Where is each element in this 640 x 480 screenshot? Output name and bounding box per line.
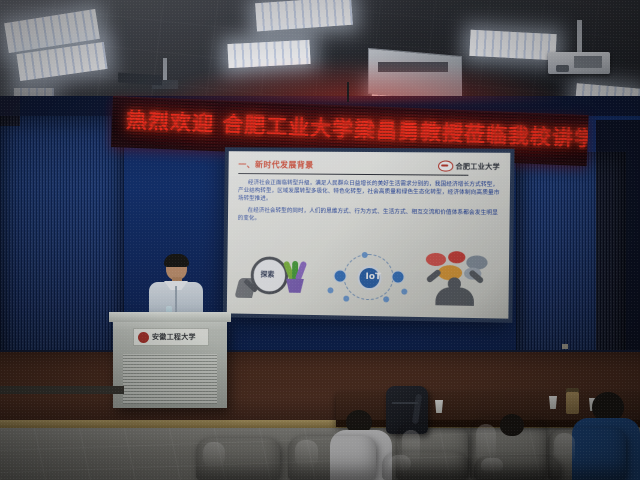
wall-baseboard: [0, 386, 124, 394]
network-node-3: [362, 252, 368, 258]
slide-body-text: 经济社会正面临转型升级，满足人民群众日益增长的美好生活需求分别的，我国经济增长方…: [238, 179, 500, 226]
projection-screen: 一、新时代发展背景 合肥工业大学 经济社会正面临转型升级，满足人民群众日益增长的…: [227, 151, 511, 318]
ceiling-light-5: [469, 30, 556, 60]
slide-paragraph-1: 经济社会正面临转型升级，满足人民群众日益增长的美好生活需求分别的，我国经济增长方…: [238, 179, 500, 206]
network-node-2: [391, 270, 404, 283]
projector-body: [574, 56, 602, 68]
network-node-1: [334, 269, 347, 282]
slide-header: 一、新时代发展背景 合肥工业大学: [238, 159, 500, 172]
slide-paragraph-2: 在经济社会转型的同时，人们的思维方式、行为方式、生活方式、相互交流和价值体系都会…: [238, 206, 500, 225]
podium-front-grill: [123, 354, 217, 404]
thermos-flask: [566, 392, 579, 414]
chair-row2-1: [196, 438, 280, 480]
slide-title: 一、新时代发展背景: [238, 159, 313, 170]
network-node-7: [401, 289, 407, 295]
chair-row2-2: [288, 436, 376, 480]
panel-screw-right: [562, 344, 568, 349]
network-hub-figure: IoT: [321, 249, 414, 304]
university-logo: 合肥工业大学: [438, 160, 500, 172]
speech-bubble-red-1: [426, 253, 446, 266]
slide-figures: 探索 IoT: [237, 246, 499, 306]
lectern-podium: 安徽工程大学: [113, 318, 227, 408]
banner-ceiling-glow: [150, 58, 570, 102]
network-node-5: [343, 296, 349, 302]
podium-university-name: 安徽工程大学: [152, 332, 196, 342]
plant-pot: [286, 279, 304, 293]
people-speech-bubbles-figure: [421, 251, 499, 307]
banner-cable: [347, 82, 349, 102]
university-logo-text: 合肥工业大学: [455, 161, 500, 171]
chair-row2-4: [474, 456, 560, 480]
magnifier-plant-figure: 探索: [237, 248, 314, 303]
podium-top-surface: [109, 312, 231, 322]
magnifier-label: 探索: [261, 269, 275, 279]
speaker-hair: [164, 254, 189, 267]
presentation-slide: 一、新时代发展背景 合肥工业大学 经济社会正面临转型升级，满足人民群众日益增长的…: [227, 151, 511, 318]
person-body: [435, 287, 474, 306]
projection-screen-frame: 一、新时代发展背景 合肥工业大学 经济社会正面临转型升级，满足人民群众日益增长的…: [223, 147, 515, 323]
network-node-6: [383, 296, 389, 302]
podium-emblem-icon: [138, 332, 149, 343]
acoustic-panel-left: [0, 116, 124, 388]
network-node-4: [327, 287, 333, 293]
speech-bubble-red-2: [448, 251, 465, 263]
university-emblem-icon: [438, 160, 453, 171]
podium-name-plate: 安徽工程大学: [133, 328, 209, 346]
hub-label: IoT: [365, 272, 381, 282]
projector-mount-pole: [577, 20, 582, 56]
backpack-strap: [412, 394, 422, 425]
slide-divider: [238, 173, 468, 176]
chair-row2-3: [382, 452, 468, 480]
backpack-zipper: [392, 402, 418, 404]
network-hub-node: IoT: [357, 266, 381, 290]
lecture-hall-photo: 热烈欢迎 合肥工业大学梁昌勇教授莅临我校讲学 一、新时代发展背景 合肥工业大学 …: [0, 0, 640, 480]
magnifier-glass-icon: 探索: [251, 256, 289, 294]
